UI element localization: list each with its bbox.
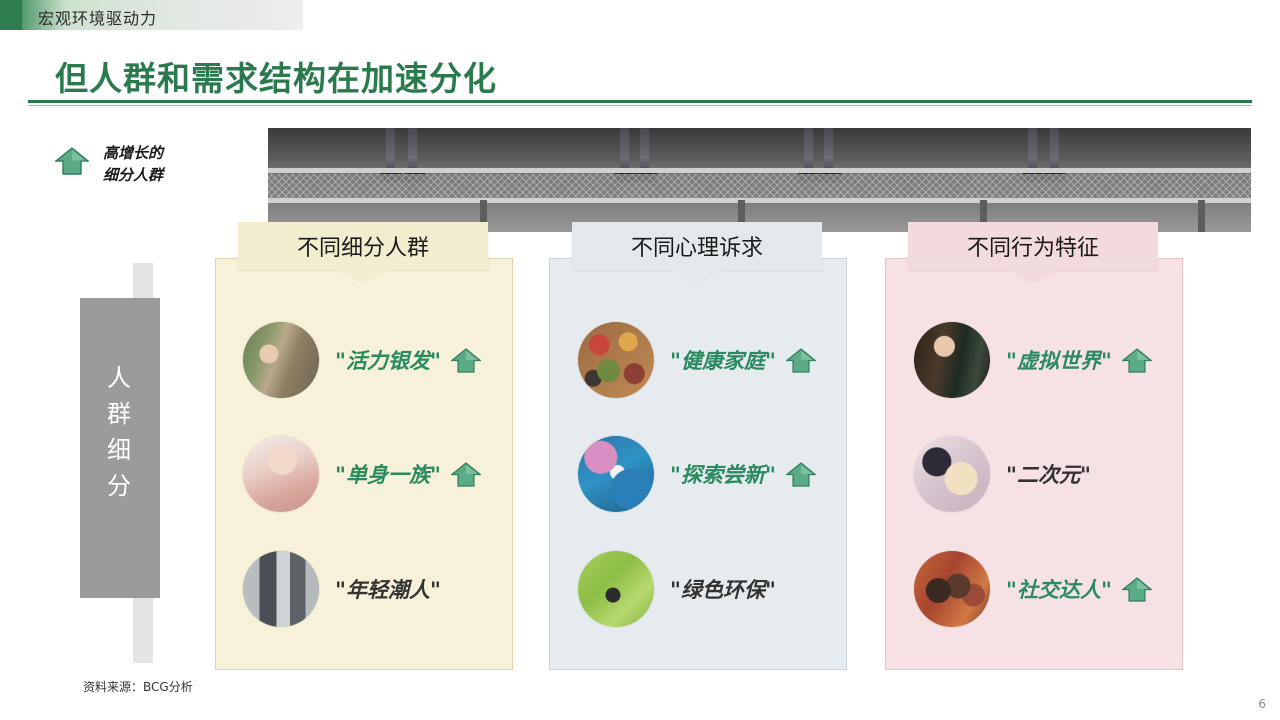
column-header-notch-3 <box>1007 270 1059 284</box>
sidebar-char-1: 群 <box>80 396 160 432</box>
list-item[interactable]: "探索尝新" <box>578 436 816 512</box>
section-tag-label: 宏观环境驱动力 <box>38 5 157 29</box>
legend-text: 高增长的 细分人群 <box>103 142 233 186</box>
green-up-arrow-icon <box>1122 347 1152 374</box>
list-item-label: "二次元" <box>1006 459 1091 489</box>
avatar <box>578 436 654 512</box>
sidebar-vertical-label: 人 群 细 分 <box>80 360 160 504</box>
list-item-label: "健康家庭" <box>670 345 776 375</box>
avatar <box>243 436 319 512</box>
list-item[interactable]: "社交达人" <box>914 551 1152 627</box>
legend-line-1: 高增长的 <box>103 142 233 164</box>
banner-mesh-fence <box>268 174 1251 200</box>
header-photo-banner <box>268 128 1251 232</box>
title-divider <box>28 100 1252 103</box>
column-header-notch-2 <box>671 270 723 284</box>
list-item-label: "活力银发" <box>335 345 441 375</box>
green-accent-block <box>0 0 22 30</box>
list-item-label: "虚拟世界" <box>1006 345 1112 375</box>
green-up-arrow-icon <box>786 461 816 488</box>
avatar <box>578 551 654 627</box>
legend-line-2: 细分人群 <box>103 164 233 186</box>
legend: 高增长的 细分人群 <box>55 142 245 198</box>
list-item[interactable]: "绿色环保" <box>578 551 776 627</box>
avatar <box>914 551 990 627</box>
sidebar-char-2: 细 <box>80 432 160 468</box>
list-item[interactable]: "虚拟世界" <box>914 322 1152 398</box>
list-item[interactable]: "单身一族" <box>243 436 481 512</box>
list-item-label: "年轻潮人" <box>335 574 441 604</box>
avatar <box>914 322 990 398</box>
avatar <box>243 322 319 398</box>
slide-canvas: 宏观环境驱动力 但人群和需求结构在加速分化 高增长的 细分人群 <box>0 0 1280 720</box>
green-up-arrow-icon <box>451 347 481 374</box>
sidebar-char-0: 人 <box>80 360 160 396</box>
avatar <box>243 551 319 627</box>
list-item-label: "社交达人" <box>1006 574 1112 604</box>
sidebar-char-3: 分 <box>80 468 160 504</box>
avatar <box>578 322 654 398</box>
green-up-arrow-icon <box>1122 576 1152 603</box>
page-title: 但人群和需求结构在加速分化 <box>55 52 497 100</box>
list-item-label: "探索尝新" <box>670 459 776 489</box>
list-item[interactable]: "健康家庭" <box>578 322 816 398</box>
column-header-psychology: 不同心理诉求 <box>572 222 822 270</box>
list-item[interactable]: "年轻潮人" <box>243 551 441 627</box>
green-up-arrow-icon <box>451 461 481 488</box>
avatar <box>914 436 990 512</box>
page-number: 6 <box>1258 697 1266 711</box>
banner-rail-bottom <box>268 198 1251 203</box>
list-item[interactable]: "活力银发" <box>243 322 481 398</box>
green-up-arrow-icon <box>786 347 816 374</box>
banner-rail-top <box>268 168 1251 173</box>
list-item-label: "单身一族" <box>335 459 441 489</box>
column-header-behavior: 不同行为特征 <box>908 222 1158 270</box>
green-up-arrow-icon <box>55 146 89 176</box>
column-header-segments: 不同细分人群 <box>238 222 488 270</box>
list-item-label: "绿色环保" <box>670 574 776 604</box>
source-note: 资料来源：BCG分析 <box>83 678 193 695</box>
column-header-notch-1 <box>337 270 389 284</box>
title-divider-secondary <box>28 105 1252 106</box>
section-tag-bar: 宏观环境驱动力 <box>0 0 303 30</box>
list-item[interactable]: "二次元" <box>914 436 1091 512</box>
